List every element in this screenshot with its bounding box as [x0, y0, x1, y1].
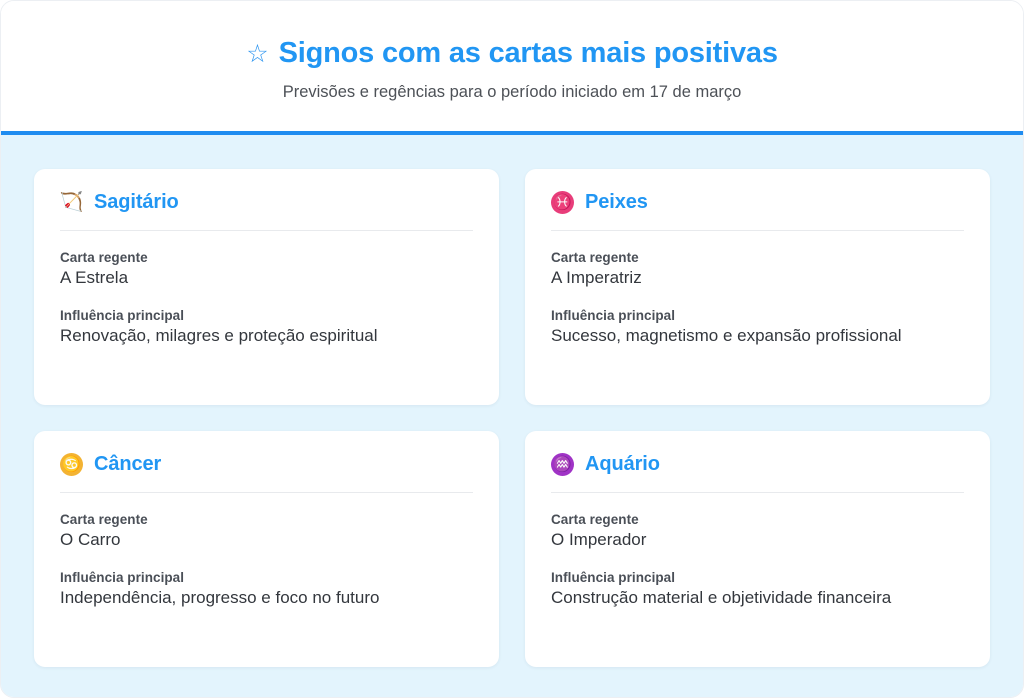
header-title-row: ☆ Signos com as cartas mais positivas — [246, 37, 778, 70]
main-influence-value: Sucesso, magnetismo e expansão profissio… — [551, 326, 964, 346]
pisces-icon: ♓ — [551, 191, 574, 214]
main-influence-value: Renovação, milagres e proteção espiritua… — [60, 326, 473, 346]
ruling-card-label: Carta regente — [60, 512, 473, 527]
cancer-icon: ♋ — [60, 453, 83, 476]
sign-card-header: ♒ Aquário — [551, 453, 964, 492]
main-influence-label: Influência principal — [60, 570, 473, 585]
page-title: Signos com as cartas mais positivas — [279, 37, 778, 70]
ruling-card-block: Carta regente O Carro — [60, 512, 473, 550]
main-influence-label: Influência principal — [60, 308, 473, 323]
main-influence-label: Influência principal — [551, 308, 964, 323]
card-divider — [60, 492, 473, 493]
sign-card[interactable]: ♋ Câncer Carta regente O Carro Influênci… — [34, 431, 499, 667]
sign-card-grid: 🏹 Sagitário Carta regente A Estrela Infl… — [34, 169, 990, 667]
sign-name: Sagitário — [94, 191, 179, 214]
ruling-card-value: O Imperador — [551, 530, 964, 550]
card-divider — [60, 230, 473, 231]
page-frame: ☆ Signos com as cartas mais positivas Pr… — [0, 0, 1024, 698]
sign-card[interactable]: ♒ Aquário Carta regente O Imperador Infl… — [525, 431, 990, 667]
sign-name: Aquário — [585, 453, 660, 476]
ruling-card-label: Carta regente — [551, 250, 964, 265]
main-influence-block: Influência principal Sucesso, magnetismo… — [551, 308, 964, 346]
sign-card-header: ♋ Câncer — [60, 453, 473, 492]
sign-card-header: ♓ Peixes — [551, 191, 964, 230]
ruling-card-value: A Estrela — [60, 268, 473, 288]
card-divider — [551, 492, 964, 493]
sign-card[interactable]: ♓ Peixes Carta regente A Imperatriz Infl… — [525, 169, 990, 405]
ruling-card-block: Carta regente O Imperador — [551, 512, 964, 550]
ruling-card-label: Carta regente — [551, 512, 964, 527]
page-header: ☆ Signos com as cartas mais positivas Pr… — [1, 1, 1023, 131]
sign-name: Câncer — [94, 453, 161, 476]
ruling-card-block: Carta regente A Estrela — [60, 250, 473, 288]
sign-name: Peixes — [585, 191, 648, 214]
aquarius-icon: ♒ — [551, 453, 574, 476]
ruling-card-label: Carta regente — [60, 250, 473, 265]
card-divider — [551, 230, 964, 231]
main-influence-value: Independência, progresso e foco no futur… — [60, 588, 473, 608]
sagittarius-bow-icon: 🏹 — [60, 191, 83, 214]
ruling-card-value: A Imperatriz — [551, 268, 964, 288]
star-outline-icon: ☆ — [246, 42, 268, 67]
ruling-card-block: Carta regente A Imperatriz — [551, 250, 964, 288]
main-influence-value: Construção material e objetividade finan… — [551, 588, 964, 608]
sign-card-header: 🏹 Sagitário — [60, 191, 473, 230]
main-influence-block: Influência principal Renovação, milagres… — [60, 308, 473, 346]
page-subtitle: Previsões e regências para o período ini… — [283, 83, 742, 102]
main-influence-block: Influência principal Construção material… — [551, 570, 964, 608]
content-area: 🏹 Sagitário Carta regente A Estrela Infl… — [1, 135, 1023, 698]
main-influence-label: Influência principal — [551, 570, 964, 585]
sign-card[interactable]: 🏹 Sagitário Carta regente A Estrela Infl… — [34, 169, 499, 405]
main-influence-block: Influência principal Independência, prog… — [60, 570, 473, 608]
ruling-card-value: O Carro — [60, 530, 473, 550]
